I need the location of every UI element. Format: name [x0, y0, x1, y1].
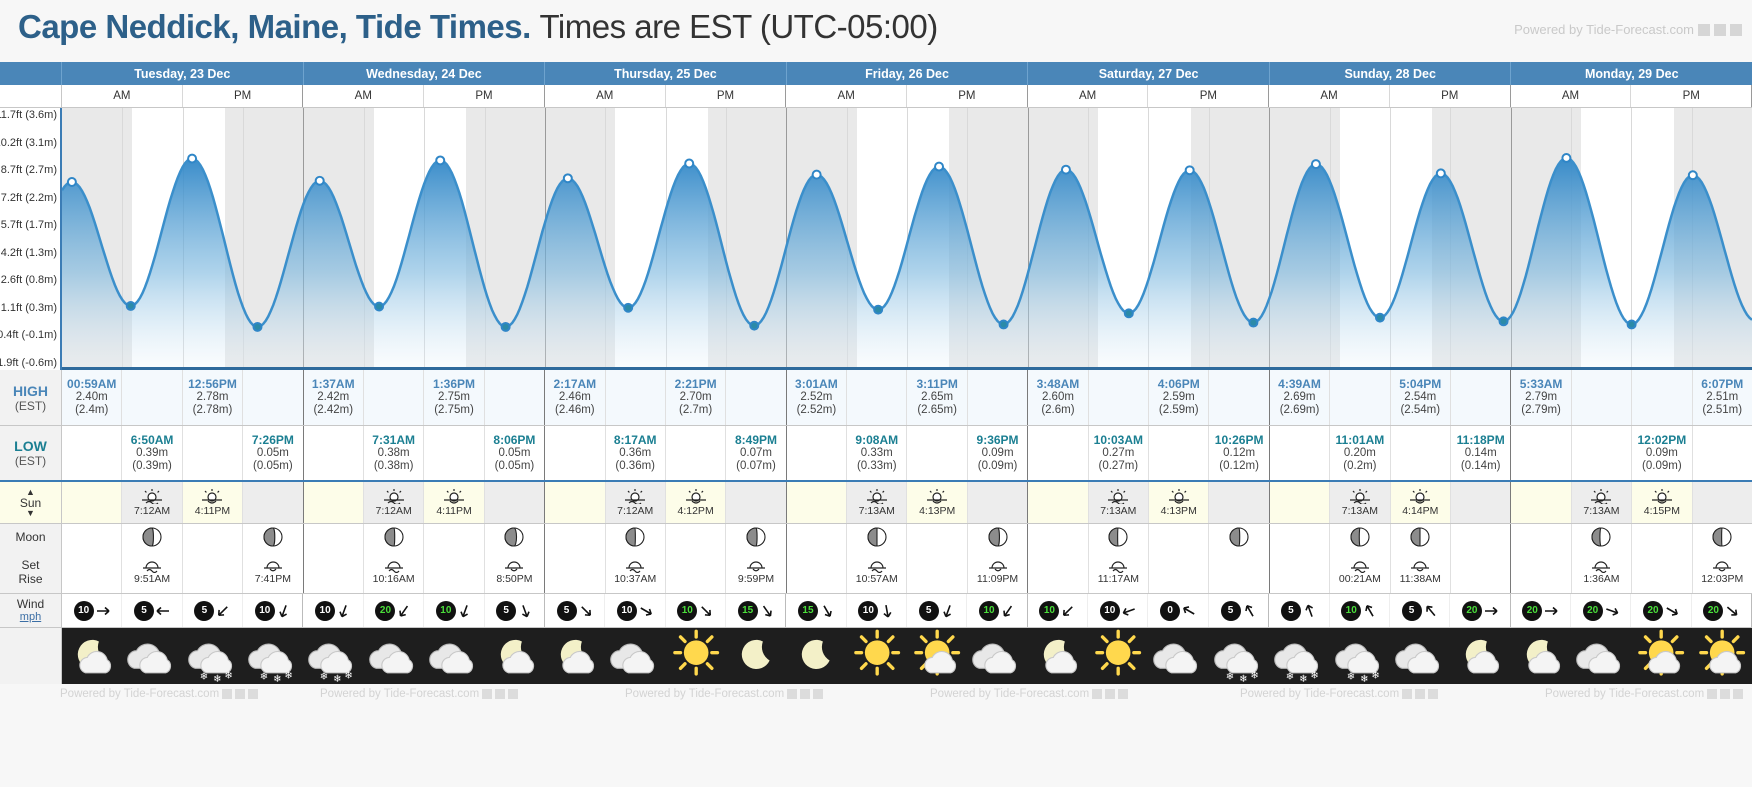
- low-tide-time: 11:01AM: [1336, 434, 1385, 447]
- sunset-icon: [443, 488, 465, 504]
- wind-cell-18: 0: [1148, 594, 1208, 627]
- wind-speed-badge: 5: [919, 601, 939, 621]
- moon-phase-cell-2: [183, 524, 243, 550]
- high-tide-cell-20: 4:39AM2.69m(2.69m): [1270, 370, 1330, 425]
- low-tide-cell-5: 7:31AM0.38m(0.38m): [364, 426, 424, 480]
- moon-phase-row: Moon: [0, 524, 1752, 550]
- moon-phase-cell-27: [1693, 524, 1752, 550]
- moonrise-icon: [1711, 558, 1733, 573]
- weather-icon-night-cloud: [1028, 628, 1088, 684]
- wind-cell-16: 10: [1028, 594, 1088, 627]
- low-tide-marker: [750, 322, 758, 330]
- low-tide-cell-7: 8:06PM0.05m(0.05m): [485, 426, 545, 480]
- sun-set-time: 4:15PM: [1644, 505, 1680, 517]
- moonset-icon: [866, 558, 888, 573]
- brand-square-icon: [1730, 24, 1742, 36]
- high-tide-time: 4:06PM: [1158, 378, 1200, 391]
- moon-phase-cell-22: [1391, 524, 1451, 550]
- wind-direction-arrow: [579, 604, 593, 618]
- svg-text:❄: ❄: [334, 674, 342, 684]
- wind-speed-badge: 20: [1703, 601, 1723, 621]
- day-header-2: Thursday, 25 Dec: [545, 62, 787, 85]
- weather-icon-sun: [1088, 628, 1148, 684]
- weather-icon-sun: [666, 628, 726, 684]
- moon-rise-time: 11:09PM: [977, 573, 1018, 585]
- weather-icon-cloud: [1390, 628, 1450, 684]
- footer-watermark: Powered by Tide-Forecast.com: [320, 688, 518, 700]
- low-tide-marker: [253, 323, 261, 331]
- moonrise-icon: [262, 558, 284, 573]
- high-tide-height-alt: (2.65m): [917, 404, 957, 417]
- moon-phase-cell-1: [122, 524, 182, 550]
- high-tide-marker: [1062, 166, 1070, 174]
- high-tide-cell-18: 4:06PM2.59m(2.59m): [1149, 370, 1209, 425]
- moon-phase-icon: [141, 526, 163, 548]
- moon-set-time: 1:36AM: [1583, 573, 1619, 585]
- day-header-4: Saturday, 27 Dec: [1028, 62, 1270, 85]
- low-tide-time: 7:26PM: [252, 434, 294, 447]
- high-tide-cell-6: 1:36PM2.75m(2.75m): [424, 370, 484, 425]
- wind-speed-badge: 20: [375, 601, 395, 621]
- moon-event-cell-12: [787, 550, 847, 593]
- sun-set-time: 4:13PM: [1161, 505, 1197, 517]
- low-tide-time: 10:03AM: [1094, 434, 1143, 447]
- footer-watermark: Powered by Tide-Forecast.com: [1240, 688, 1438, 700]
- low-tide-height-alt: (0.07m): [736, 460, 776, 473]
- low-tide-time: 6:50AM: [131, 434, 174, 447]
- y-axis-label: -1.9ft (-0.6m): [0, 357, 57, 369]
- high-tide-marker: [1437, 169, 1445, 177]
- wind-cell-12: 15: [786, 594, 846, 627]
- moonset-icon: [1590, 558, 1612, 573]
- wind-cell-8: 5: [545, 594, 605, 627]
- page-title-sub: Times are EST (UTC-05:00): [539, 8, 937, 45]
- page-header: Cape Neddick, Maine, Tide Times. Times a…: [0, 0, 1752, 62]
- weather-icon-moon: [726, 628, 786, 684]
- sun-cell-21: 7:13AM: [1330, 482, 1390, 523]
- high-tide-marker: [1562, 154, 1570, 162]
- low-tide-height-alt: (0.38m): [374, 460, 414, 473]
- high-tide-time: 5:04PM: [1399, 378, 1441, 391]
- low-tide-label: LOW (EST): [0, 426, 62, 480]
- low-tide-cell-22: [1391, 426, 1451, 480]
- low-tide-time: 9:08AM: [855, 434, 898, 447]
- halfday-am-day2: AM: [545, 85, 666, 107]
- wind-speed-badge: 20: [1583, 601, 1603, 621]
- moon-rise-time: 12:03PM: [1701, 573, 1743, 585]
- sun-cell-23: [1451, 482, 1511, 523]
- high-tide-height: 2.54m: [1404, 391, 1436, 404]
- sun-row: ▲ Sun ▼ 7:12AM4:11PM7:12AM4:11PM7:12AM4:…: [0, 482, 1752, 524]
- sunrise-icon: [1590, 488, 1612, 504]
- low-tide-cell-6: [424, 426, 484, 480]
- wind-cell-9: 10: [605, 594, 665, 627]
- high-tide-cell-8: 2:17AM2.46m(2.46m): [545, 370, 605, 425]
- svg-text:❄: ❄: [1286, 672, 1294, 683]
- svg-text:❄: ❄: [1299, 674, 1307, 684]
- low-tide-marker: [624, 304, 632, 312]
- moon-setrise-label: Set Rise: [0, 550, 62, 593]
- halfday-label: AM: [596, 90, 613, 102]
- sun-cell-15: [968, 482, 1028, 523]
- halfday-am-day4: AM: [1028, 85, 1149, 107]
- wind-cell-2: 5: [183, 594, 243, 627]
- wind-cell-27: 20: [1692, 594, 1752, 627]
- moon-phase-cell-25: [1572, 524, 1632, 550]
- day-header-5: Sunday, 28 Dec: [1270, 62, 1512, 85]
- weather-icon-cloud: [364, 628, 424, 684]
- wind-direction-arrow: [156, 604, 170, 618]
- halfday-label: PM: [475, 90, 492, 102]
- moon-phase-icon: [1349, 526, 1371, 548]
- high-tide-label-tz: (EST): [15, 399, 46, 413]
- moon-phase-cell-18: [1149, 524, 1209, 550]
- moon-phase-cell-21: [1330, 524, 1390, 550]
- footer-brand-text: Powered by Tide-Forecast.com: [60, 688, 219, 700]
- sun-cell-7: [485, 482, 545, 523]
- wind-cell-7: 5: [485, 594, 545, 627]
- moon-phase-cell-9: [606, 524, 666, 550]
- low-tide-height-alt: (0.33m): [857, 460, 897, 473]
- high-tide-cell-4: 1:37AM2.42m(2.42m): [304, 370, 364, 425]
- wind-cell-6: 10: [424, 594, 484, 627]
- moon-event-cell-25: 1:36AM: [1572, 550, 1632, 593]
- footer-square-icon: [235, 689, 245, 699]
- wind-direction-arrow: [760, 604, 774, 618]
- wind-speed-badge: 5: [194, 601, 214, 621]
- sun-cell-25: 7:13AM: [1572, 482, 1632, 523]
- footer-brand-text: Powered by Tide-Forecast.com: [625, 688, 784, 700]
- sunset-icon: [201, 488, 223, 504]
- sun-cell-18: 4:13PM: [1149, 482, 1209, 523]
- wind-speed-badge: 5: [1402, 601, 1422, 621]
- low-tide-height: 0.14m: [1465, 447, 1497, 460]
- high-tide-marker: [188, 155, 196, 163]
- moonrise-icon: [987, 558, 1009, 573]
- moonset-icon: [141, 558, 163, 573]
- svg-text:❄: ❄: [1250, 670, 1258, 681]
- high-tide-cell-13: [847, 370, 907, 425]
- svg-text:❄: ❄: [1371, 670, 1379, 681]
- high-tide-height-alt: (2.75m): [434, 404, 474, 417]
- high-tide-height: 2.79m: [1525, 391, 1557, 404]
- wind-speed-badge: 5: [1281, 601, 1301, 621]
- low-tide-cell-4: [304, 426, 364, 480]
- high-tide-marker: [813, 171, 821, 179]
- wind-unit-link[interactable]: mph: [20, 611, 41, 624]
- y-axis-label: 2.6ft (0.8m): [1, 274, 57, 286]
- high-tide-cell-1: [122, 370, 182, 425]
- high-tide-cell-5: [364, 370, 424, 425]
- low-tide-height-alt: (0.2m): [1343, 460, 1376, 473]
- low-tide-cell-2: [183, 426, 243, 480]
- weather-icon-cloud-snow: ❄❄❄: [1269, 628, 1329, 684]
- high-tide-cell-7: [485, 370, 545, 425]
- sunrise-icon: [1107, 488, 1129, 504]
- moon-phase-cell-14: [907, 524, 967, 550]
- moon-event-cell-20: [1270, 550, 1330, 593]
- wind-cell-10: 10: [666, 594, 726, 627]
- moonrise-icon: [745, 558, 767, 573]
- low-tide-cell-1: 6:50AM0.39m(0.39m): [122, 426, 182, 480]
- sun-rise-time: 7:13AM: [1583, 505, 1619, 517]
- high-tide-marker: [316, 177, 324, 185]
- moon-phase-icon: [987, 526, 1009, 548]
- wind-direction-arrow: [880, 604, 894, 618]
- high-tide-height-alt: (2.69m): [1280, 404, 1320, 417]
- moon-set-time: 10:37AM: [614, 573, 656, 585]
- wind-direction-arrow: [518, 604, 532, 618]
- sun-rise-time: 7:12AM: [376, 505, 412, 517]
- low-tide-cell-23: 11:18PM0.14m(0.14m): [1451, 426, 1511, 480]
- wind-direction-arrow: [96, 604, 110, 618]
- halfday-am-day1: AM: [303, 85, 424, 107]
- wind-direction-arrow: [458, 604, 472, 618]
- moon-phase-cell-26: [1632, 524, 1692, 550]
- sun-cell-26: 4:15PM: [1632, 482, 1692, 523]
- wind-speed-badge: 0: [1160, 601, 1180, 621]
- wind-direction-arrow: [397, 604, 411, 618]
- moon-row-label-text: Moon: [15, 530, 45, 544]
- wind-cell-4: 10: [303, 594, 363, 627]
- wind-direction-arrow: [1001, 604, 1015, 618]
- high-tide-cell-23: [1451, 370, 1511, 425]
- high-tide-cell-24: 5:33AM2.79m(2.79m): [1511, 370, 1571, 425]
- low-tide-height: 0.20m: [1344, 447, 1376, 460]
- moon-setrise-row: Set Rise 9:51AM7:41PM10:16AM8:50PM10:37A…: [0, 550, 1752, 594]
- low-tide-cell-27: [1693, 426, 1752, 480]
- halfday-label: AM: [113, 90, 130, 102]
- high-tide-cell-26: [1632, 370, 1692, 425]
- wind-speed-badge: 20: [1522, 601, 1542, 621]
- weather-icon-cloud: [424, 628, 484, 684]
- low-tide-cell-8: [545, 426, 605, 480]
- sun-cell-5: 7:12AM: [364, 482, 424, 523]
- moon-phase-icon: [866, 526, 888, 548]
- sun-cell-6: 4:11PM: [424, 482, 484, 523]
- wind-speed-badge: 10: [979, 601, 999, 621]
- tide-area-fill: [62, 158, 1752, 367]
- wind-speed-badge: 10: [1341, 601, 1361, 621]
- moon-phase-icon: [503, 526, 525, 548]
- weather-icon-cloud: [1571, 628, 1631, 684]
- moon-event-cell-22: 11:38AM: [1391, 550, 1451, 593]
- sunset-icon: [1409, 488, 1431, 504]
- sun-cell-8: [545, 482, 605, 523]
- high-tide-height: 2.52m: [800, 391, 832, 404]
- high-tide-cell-0: 00:59AM2.40m(2.4m): [62, 370, 122, 425]
- moon-phase-cell-8: [545, 524, 605, 550]
- high-tide-cell-9: [606, 370, 666, 425]
- sun-rise-time: 7:13AM: [1100, 505, 1136, 517]
- high-tide-marker: [564, 174, 572, 182]
- moon-phase-icon: [383, 526, 405, 548]
- footer-square-icon: [800, 689, 810, 699]
- low-tide-time: 9:36PM: [977, 434, 1019, 447]
- halfday-am-day5: AM: [1269, 85, 1390, 107]
- y-axis-label: 1.1ft (0.3m): [1, 302, 57, 314]
- weather-icon-night-cloud: [1450, 628, 1510, 684]
- low-tide-height: 0.09m: [982, 447, 1014, 460]
- wind-direction-arrow: [1182, 604, 1196, 618]
- footer-square-icon: [1733, 689, 1743, 699]
- wind-speed-badge: 10: [858, 601, 878, 621]
- footer-square-icon: [495, 689, 505, 699]
- wind-speed-badge: 10: [315, 601, 335, 621]
- low-tide-height-alt: (0.39m): [132, 460, 172, 473]
- low-tide-height: 0.07m: [740, 447, 772, 460]
- moon-phase-icon: [1228, 526, 1250, 548]
- footer-watermark: Powered by Tide-Forecast.com: [930, 688, 1128, 700]
- wind-direction-arrow: [1243, 604, 1257, 618]
- moon-phase-icon: [745, 526, 767, 548]
- day-header-3: Friday, 26 Dec: [787, 62, 1029, 85]
- wind-row: Wind mph 1055101020105510101515105101010…: [0, 594, 1752, 628]
- low-tide-marker: [502, 323, 510, 331]
- halfday-pm-day2: PM: [666, 85, 787, 107]
- wind-speed-badge: 20: [1643, 601, 1663, 621]
- weather-icon-cloud-snow: ❄❄❄: [1330, 628, 1390, 684]
- footer-brand-text: Powered by Tide-Forecast.com: [1240, 688, 1399, 700]
- weather-icon-cloud-snow: ❄❄❄: [1209, 628, 1269, 684]
- weather-icon-sun-cloud: [1631, 628, 1691, 684]
- moon-event-cell-16: [1028, 550, 1088, 593]
- sun-cell-10: 4:12PM: [666, 482, 726, 523]
- wind-speed-badge: 5: [1221, 601, 1241, 621]
- wind-direction-arrow: [639, 604, 653, 618]
- footer-square-icon: [1092, 689, 1102, 699]
- footer-square-icon: [248, 689, 258, 699]
- day-header-label: Thursday, 25 Dec: [614, 67, 717, 81]
- high-tide-marker: [685, 160, 693, 168]
- moon-phase-cell-3: [243, 524, 303, 550]
- halfday-label: AM: [1562, 90, 1579, 102]
- wind-speed-badge: 10: [617, 601, 637, 621]
- low-tide-marker: [127, 302, 135, 310]
- high-tide-height: 2.40m: [76, 391, 108, 404]
- high-tide-height-alt: (2.52m): [797, 404, 837, 417]
- low-tide-marker: [1500, 317, 1508, 325]
- sun-cell-17: 7:13AM: [1089, 482, 1149, 523]
- wind-direction-arrow: [699, 604, 713, 618]
- moon-event-cell-26: [1632, 550, 1692, 593]
- high-tide-marker: [1312, 160, 1320, 168]
- sun-rise-time: 7:13AM: [1342, 505, 1378, 517]
- high-tide-marker: [935, 163, 943, 171]
- low-tide-height: 0.33m: [861, 447, 893, 460]
- high-tide-cell-10: 2:21PM2.70m(2.7m): [666, 370, 726, 425]
- low-tide-cell-16: [1028, 426, 1088, 480]
- high-tide-cell-11: [726, 370, 786, 425]
- wind-row-label-text: Wind: [17, 598, 44, 611]
- weather-icon-sun-cloud: [1692, 628, 1752, 684]
- moon-phase-cell-24: [1511, 524, 1571, 550]
- halfday-label: PM: [1683, 90, 1700, 102]
- weather-icon-night-cloud: [545, 628, 605, 684]
- moon-phase-cell-10: [666, 524, 726, 550]
- sun-set-time: 4:14PM: [1402, 505, 1438, 517]
- low-tide-label-text: LOW: [14, 438, 47, 454]
- weather-icon-cloud: [605, 628, 665, 684]
- low-tide-cell-21: 11:01AM0.20m(0.2m): [1330, 426, 1390, 480]
- moon-phase-icon: [1107, 526, 1129, 548]
- brand-square-icon: [1714, 24, 1726, 36]
- wind-cell-15: 10: [967, 594, 1027, 627]
- low-tide-height: 0.38m: [378, 447, 410, 460]
- footer-watermark: Powered by Tide-Forecast.com: [60, 688, 258, 700]
- moon-phase-cell-6: [424, 524, 484, 550]
- halfday-header-corner: [0, 85, 62, 107]
- low-tide-height-alt: (0.09m): [1642, 460, 1682, 473]
- low-tide-height: 0.27m: [1102, 447, 1134, 460]
- moon-set-time: 11:17AM: [1098, 573, 1139, 585]
- moon-event-cell-3: 7:41PM: [243, 550, 303, 593]
- low-tide-time: 8:49PM: [735, 434, 777, 447]
- high-tide-label-text: HIGH: [13, 383, 48, 399]
- halfday-pm-day0: PM: [183, 85, 304, 107]
- high-tide-height: 2.69m: [1284, 391, 1316, 404]
- weather-icon-night-cloud: [1511, 628, 1571, 684]
- high-tide-marker: [1186, 166, 1194, 174]
- low-tide-cell-25: [1572, 426, 1632, 480]
- high-tide-height-alt: (2.4m): [75, 404, 108, 417]
- sun-cell-9: 7:12AM: [606, 482, 666, 523]
- low-tide-height-alt: (0.09m): [978, 460, 1018, 473]
- low-tide-time: 12:02PM: [1638, 434, 1687, 447]
- moon-phase-cell-17: [1089, 524, 1149, 550]
- halfday-am-day3: AM: [786, 85, 907, 107]
- low-tide-height: 0.05m: [257, 447, 289, 460]
- high-tide-height: 2.59m: [1163, 391, 1195, 404]
- halfday-label: AM: [355, 90, 372, 102]
- footer-square-icon: [813, 689, 823, 699]
- low-tide-height-alt: (0.36m): [615, 460, 655, 473]
- high-tide-height: 2.78m: [196, 391, 228, 404]
- moon-event-cell-15: 11:09PM: [968, 550, 1028, 593]
- brand-square-icon: [1698, 24, 1710, 36]
- sun-cell-20: [1270, 482, 1330, 523]
- halfday-label: AM: [1079, 90, 1096, 102]
- wind-direction-arrow: [277, 604, 291, 618]
- svg-text:❄: ❄: [1239, 674, 1247, 684]
- moon-event-cell-27: 12:03PM: [1693, 550, 1752, 593]
- low-tide-marker: [1376, 314, 1384, 322]
- moon-event-cell-1: 9:51AM: [122, 550, 182, 593]
- halfday-pm-day4: PM: [1148, 85, 1269, 107]
- sunset-icon: [926, 488, 948, 504]
- wind-row-label: Wind mph: [0, 594, 62, 627]
- moon-rise-time: 7:41PM: [255, 573, 291, 585]
- footer-square-icon: [482, 689, 492, 699]
- halfday-label: PM: [958, 90, 975, 102]
- wind-speed-badge: 15: [798, 601, 818, 621]
- low-tide-height: 0.39m: [136, 447, 168, 460]
- wind-cell-21: 10: [1330, 594, 1390, 627]
- high-tide-height: 2.75m: [438, 391, 470, 404]
- wind-direction-arrow: [1122, 604, 1136, 618]
- weather-icon-cloud: [1148, 628, 1208, 684]
- wind-speed-badge: 5: [496, 601, 516, 621]
- page-title: Cape Neddick, Maine, Tide Times. Times a…: [18, 8, 938, 46]
- wind-cell-24: 20: [1511, 594, 1571, 627]
- low-tide-cell-3: 7:26PM0.05m(0.05m): [243, 426, 303, 480]
- wind-direction-arrow: [1725, 604, 1739, 618]
- wind-cell-20: 5: [1269, 594, 1329, 627]
- footer-square-icon: [1707, 689, 1717, 699]
- footer-square-icon: [508, 689, 518, 699]
- low-tide-cell-9: 8:17AM0.36m(0.36m): [606, 426, 666, 480]
- wind-cell-0: 10: [62, 594, 122, 627]
